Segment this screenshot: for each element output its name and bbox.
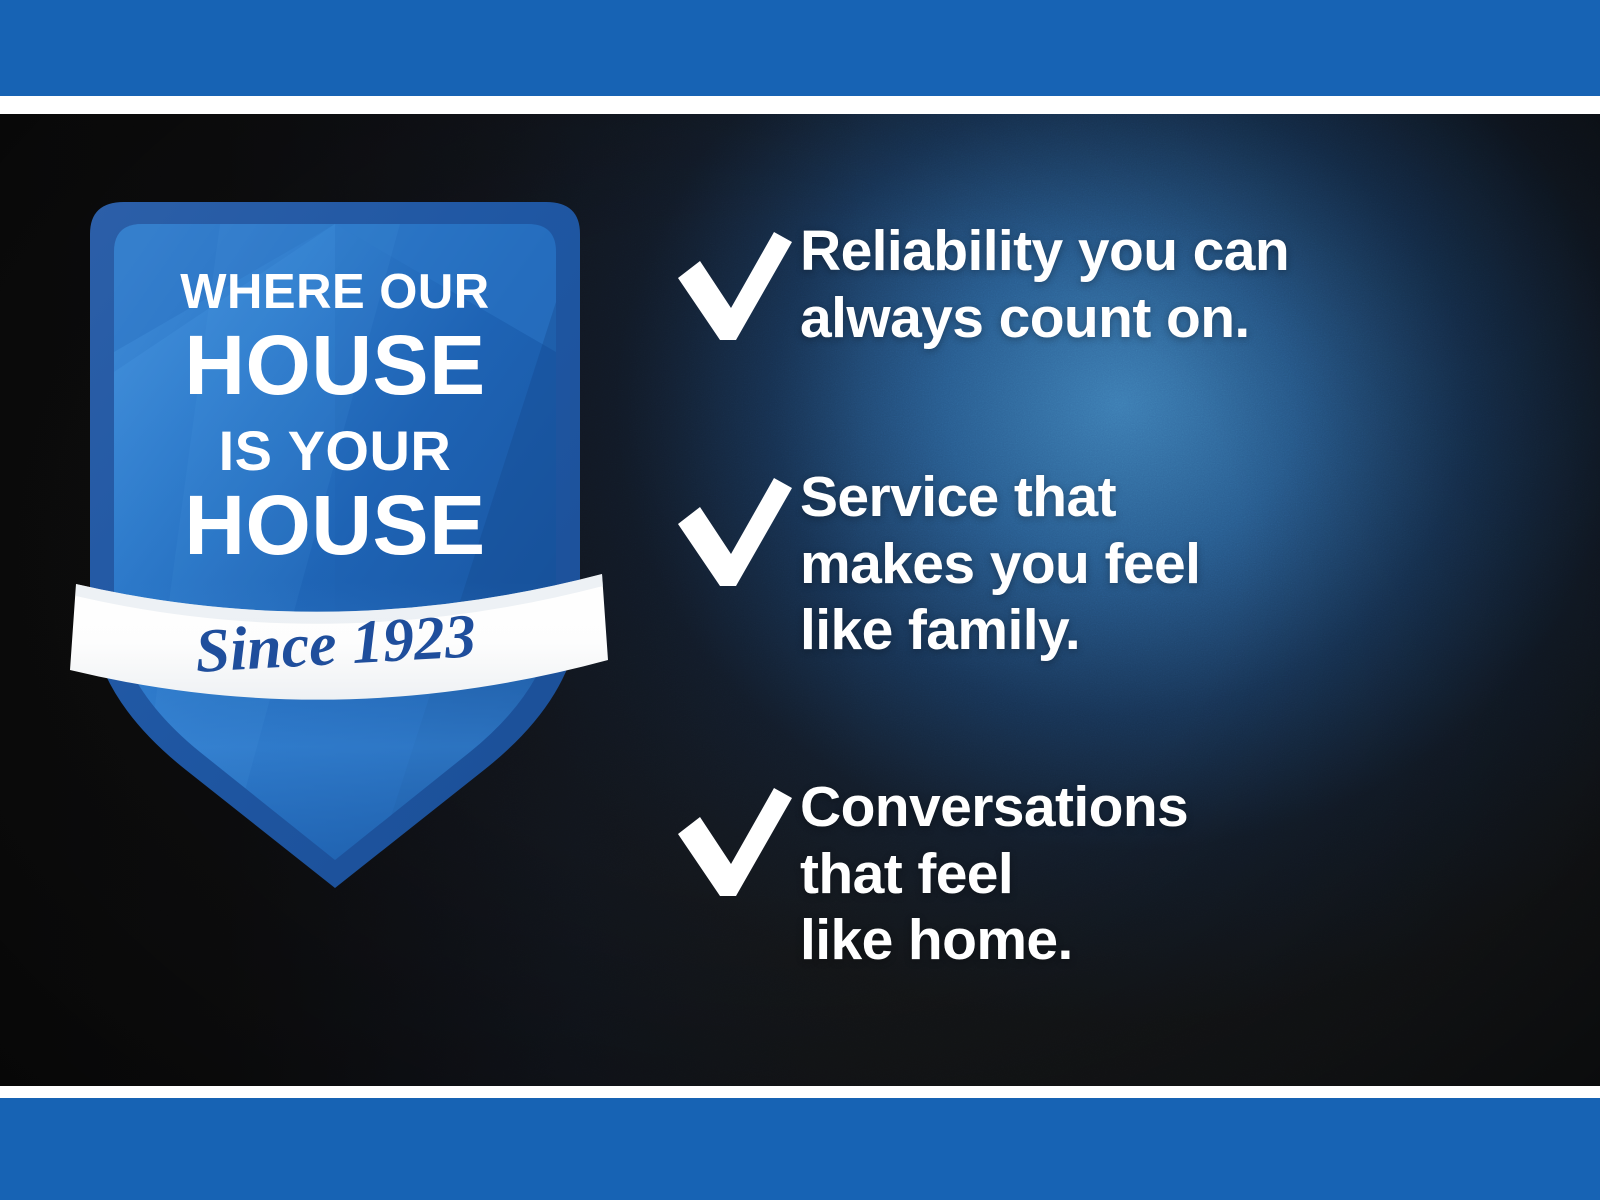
top-brand-bar [0,0,1600,96]
list-item: Conversationsthat feellike home. [670,774,1188,974]
list-item-text: Service thatmakes you feellike family. [800,464,1200,664]
list-item-text: Reliability you canalways count on. [800,218,1289,351]
shield-badge: WHERE OUR HOUSE IS YOUR HOUSE Since 1923 [70,182,610,822]
bottom-white-rule [0,1086,1600,1098]
list-item-text: Conversationsthat feellike home. [800,774,1188,974]
list-item: Reliability you canalways count on. [670,218,1289,351]
badge-line-1: WHERE OUR [180,265,489,319]
checkmark-icon [670,774,800,900]
badge-line-4: HOUSE [184,478,485,572]
checkmark-icon [670,464,800,590]
checkmark-icon [670,218,800,344]
badge-headline: WHERE OUR HOUSE IS YOUR HOUSE [180,265,489,572]
benefits-list: Reliability you canalways count on. Serv… [670,114,1570,1086]
top-white-rule [0,96,1600,114]
badge-line-2: HOUSE [184,318,485,412]
bottom-brand-bar [0,1098,1600,1200]
badge-line-3: IS YOUR [219,419,452,482]
promo-graphic: WHERE OUR HOUSE IS YOUR HOUSE Since 1923… [0,0,1600,1200]
list-item: Service thatmakes you feellike family. [670,464,1200,664]
